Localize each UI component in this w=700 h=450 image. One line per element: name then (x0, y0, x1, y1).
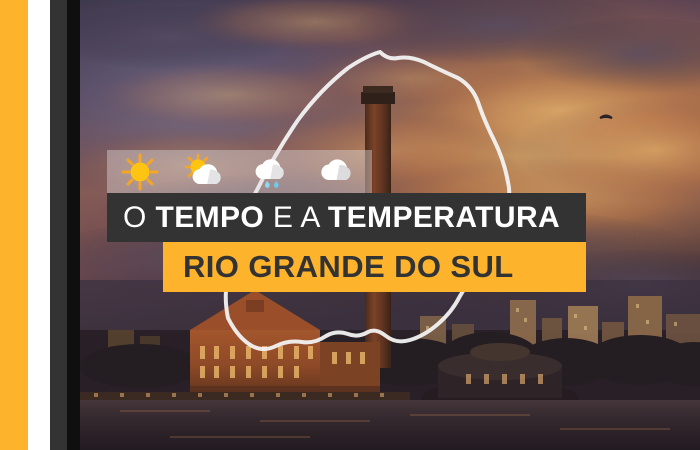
page-title: O TEMPO E A TEMPERATURA (107, 201, 560, 235)
headline-word-tempo: TEMPO (156, 201, 265, 234)
headline-word-temperatura: TEMPERATURA (328, 201, 560, 234)
headline-word-ea: E A (273, 201, 319, 234)
left-rail-gray (50, 0, 67, 450)
weather-promo-card: O TEMPO E A TEMPERATURA RIO GRANDE DO SU… (0, 0, 700, 450)
headline-word-o: O (123, 201, 147, 234)
state-banner: RIO GRANDE DO SUL (163, 242, 586, 292)
sun-behind-cloud-icon (173, 150, 239, 193)
cloud-icon (305, 150, 371, 193)
rain-cloud-icon (239, 150, 305, 193)
headline-bar: O TEMPO E A TEMPERATURA (107, 193, 586, 242)
left-rail-orange (0, 0, 28, 450)
left-rail-white (28, 0, 50, 450)
left-rail-black (67, 0, 80, 450)
sun-icon (107, 150, 173, 193)
state-name: RIO GRANDE DO SUL (163, 249, 514, 285)
forecast-icon-strip (107, 150, 372, 193)
